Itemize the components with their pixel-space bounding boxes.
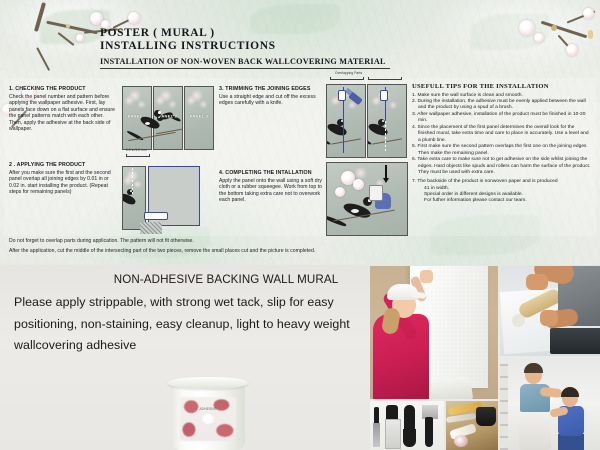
tip-item-7: 7. The backside of the product is nonwov… [412,179,592,204]
tip-item: 2. During the installation, the adhesive… [412,99,592,112]
edge-marker [380,90,388,101]
poster-title-line1: POSTER ( MURAL ) [100,27,400,40]
woman-hand [420,270,433,283]
step-3-body: Use a straight edge and cut off the exce… [219,94,323,107]
bucket-label-artwork [180,397,236,441]
scraper-blade [373,423,380,447]
adhesive-bucket: ADHESIVE [168,377,248,450]
cut-dotted-line [385,121,386,151]
step-2-body: After you make sure the first and the se… [9,170,115,196]
trim-frame-left-artwork [327,85,365,157]
man-hair [524,363,543,373]
photo-collage [370,266,600,450]
instruction-poster: POSTER ( MURAL ) INSTALLING INSTRUCTIONS… [0,0,600,265]
photo-man-and-boy [500,358,600,450]
poster-title-line2: INSTALLING INSTRUCTIONS [100,40,400,53]
floor-hatching [140,222,162,234]
bucket-label-text: ADHESIVE [183,407,233,411]
panel-2-label: PANEL 2 [159,113,178,118]
boy-hair [561,387,579,397]
photo-roller-on-paper [500,266,600,356]
squeegee-handle [404,405,415,431]
panel-3-label: PANEL 3 [190,113,209,118]
photo-tools [370,401,444,450]
step-4-heading: 4. COMPLETING THE INTALLATION [219,170,323,176]
tip-item-7-main: 7. The backside of the product is nonwov… [412,179,558,184]
final-mural-frame [326,162,408,236]
tip-item: 1. Make sure the wall surface is clean a… [412,93,592,99]
panel-layout-illustration: PANEL 1 PANEL 2 PANEL 3 [122,86,214,148]
completing-installation-illustration [326,162,406,234]
mural-description: Please apply strippable, with strong wet… [14,292,374,357]
direction-arrow-icon [383,178,389,183]
step-1-checking-the-product: 1. CHECKING THE PRODUCT Check the panel … [9,86,115,132]
bucket-lid [168,377,248,389]
trim-frame-right [367,84,407,158]
boy-legs [558,434,584,450]
wallpaper-strip [122,166,146,230]
step-4-body: Apply the panel onto the wall using a so… [219,178,323,204]
edge-marker [338,90,346,101]
squeegee-blade [403,429,416,447]
step-3-trimming-the-joining-edges: 3. TRIMMING THE JOINING EDGES Use a stra… [219,86,323,107]
applying-product-illustration [122,166,214,236]
overlap-dimension-bar [368,77,402,80]
trim-frame-left [326,84,366,158]
overlapping-parts-label: Overlapping Parts [335,71,362,75]
trimming-illustration [326,84,406,156]
leaf-shape [470,14,550,50]
step-1-body: Check the panel number and pattern befor… [9,94,115,132]
poster-subtitle: INSTALLATION OF NON-WOVEN BACK WALLCOVER… [100,57,390,69]
useful-tips-section: USEFULL TIPS FOR THE INSTALLATION 1. Mak… [412,83,592,205]
photo-rolls-and-table [446,401,498,450]
paste-pot [476,407,496,426]
photo-woman-applying-wallpaper [370,266,498,399]
panel-width-dimension-bar [126,154,150,157]
roll-end [454,435,468,447]
poster-title: POSTER ( MURAL ) INSTALLING INSTRUCTIONS [100,27,400,53]
tip-item: 4. Since the placement of the first pane… [412,125,592,144]
alignment-dotted-line [132,164,133,194]
step-3-heading: 3. TRIMMING THE JOINING EDGES [219,86,323,92]
cloth-or-squeegee [369,185,383,201]
paint-tray [550,328,600,354]
roller-handle [512,314,525,327]
worker-upper-hand [526,274,548,290]
step-2-applying-the-product: 2 . APPLYING THE PRODUCT After you make … [9,162,115,196]
tip-item: 6. Take extra care to make sure not to g… [412,157,592,176]
ladder [500,364,508,450]
man-pants [519,410,551,450]
footnote-overlap: Do not forget to overlap parts during ap… [9,238,194,245]
overlap-dimension-bar [330,77,364,80]
footnote-cutting: After the application, cut the middle of… [9,248,315,255]
panel-2: PANEL 2 [153,86,183,150]
smoother-blade [385,419,401,449]
squeegee-tool [144,212,168,220]
tip-item: 3. After wallpaper adhesive, installatio… [412,112,592,125]
worker-lower-hand [540,310,558,326]
tips-heading: USEFULL TIPS FOR THE INSTALLATION [412,83,592,90]
tips-list: 1. Make sure the wall surface is clean a… [412,93,592,205]
panel-3: PANEL 3 [184,86,214,150]
step-4-completing-the-installation: 4. COMPLETING THE INTALLATION Apply the … [219,170,323,204]
tip-item-7-sub: For futher information please contact ou… [418,198,592,204]
putty-knife-handle [425,417,433,447]
step-2-heading: 2 . APPLYING THE PRODUCT [9,162,115,168]
tip-item: 5. First make sure the second pattern ov… [412,144,592,157]
direction-arrow-stem [385,165,387,179]
panel-width-dimension-label: 0.5 in/1.2 mm [126,148,147,152]
mural-heading: NON-ADHESIVE BACKING WALL MURAL [76,273,376,286]
step-1-heading: 1. CHECKING THE PRODUCT [9,86,115,92]
